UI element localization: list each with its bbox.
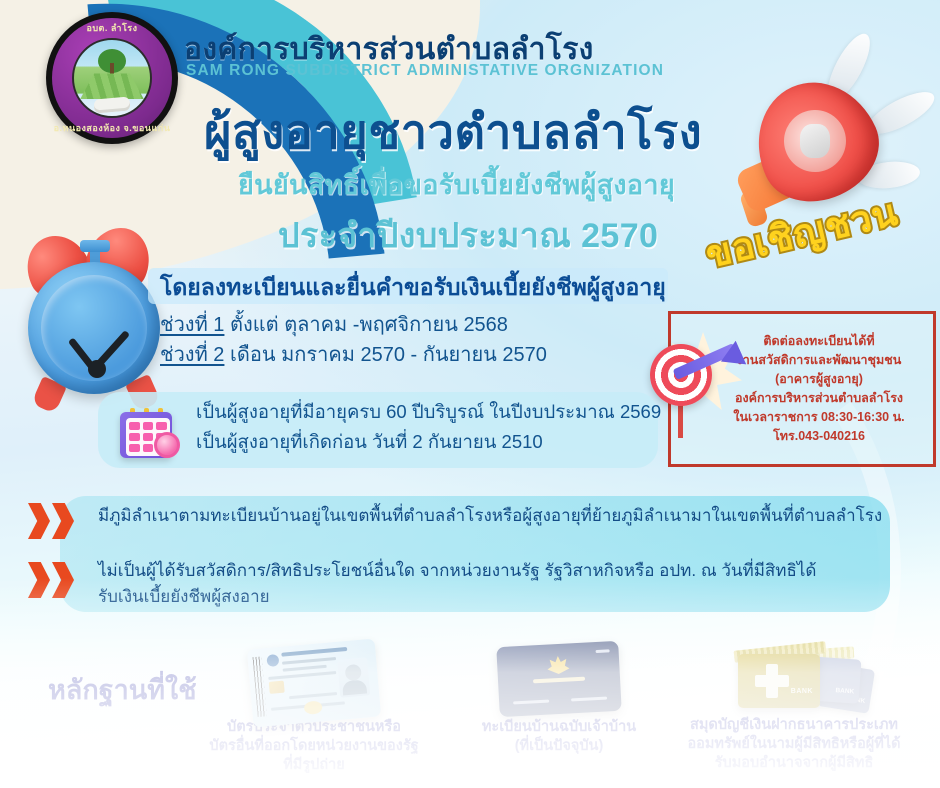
period-2-label: ช่วงที่ 2 [160,344,224,366]
criteria-item-1: มีภูมิลำเนาตามทะเบียนบ้านอยู่ในเขตพื้นที… [98,503,898,529]
org-name-english: SAM RONG SUBDISTRICT ADMINISTATIVE ORGNI… [186,62,664,80]
handshake-icon [93,96,131,113]
age-criteria-line-2: เป็นผู้สูงอายุที่เกิดก่อน วันที่ 2 กันยา… [196,428,543,457]
logo-text-bottom: อ.หนองสองห้อง จ.ขอนแก่น [46,121,178,135]
poster-root: อบต. ลำโรง อ.หนองสองห้อง จ.ขอนแก่น องค์ก… [0,0,940,788]
calendar-clock-icon [154,432,180,458]
calendar-icon [110,400,182,462]
chevron-double-right-icon [28,503,84,539]
logo-text-top: อบต. ลำโรง [46,21,178,35]
logo-emblem-scene [72,38,152,118]
period-2-value: เดือน มกราคม 2570 - กันยายน 2570 [230,344,547,366]
period-1-label: ช่วงที่ 1 [160,314,224,336]
alarm-clock-icon [18,222,178,402]
clock-knob [80,240,110,252]
page-subtitle: ยืนยันสิทธิ์เพื่อขอรับเบี้ยยังชีพผู้สูงอ… [238,163,675,206]
dartboard-icon [650,326,746,422]
clock-center-pin [88,360,106,378]
clock-face [28,262,160,394]
page-title: ผู้สูงอายุชาวตำบลลำโรง [204,94,702,169]
age-criteria-line-1: เป็นผู้สูงอายุที่มีอายุครบ 60 ปีบริบูรณ์… [196,398,661,427]
registration-period-1: ช่วงที่ 1 ตั้งแต่ ตุลาคม -พฤศจิกายน 2568 [160,308,508,340]
organization-logo: อบต. ลำโรง อ.หนองสองห้อง จ.ขอนแก่น [46,12,178,144]
fiscal-year-title: ประจำปีงบประมาณ 2570 [278,208,658,262]
bottom-fade-overlay [0,578,940,788]
field-icon [80,73,144,99]
megaphone-core [800,124,830,158]
registration-heading: โดยลงทะเบียนและยื่นคำขอรับเงินเบี้ยยังชี… [160,270,666,306]
contact-phone: โทร.043-040216 [711,428,927,445]
registration-period-2: ช่วงที่ 2 เดือน มกราคม 2570 - กันยายน 25… [160,338,547,370]
period-1-value: ตั้งแต่ ตุลาคม -พฤศจิกายน 2568 [230,314,508,336]
